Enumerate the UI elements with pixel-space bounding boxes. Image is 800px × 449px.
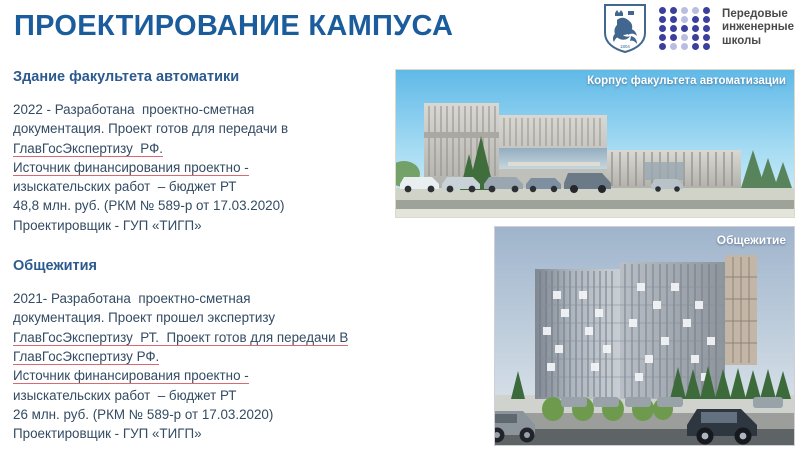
content-left-column: Здание факультета автоматики 2022 - Разр…: [13, 68, 393, 443]
photo-caption: Общежитие: [717, 233, 786, 247]
text-line: документация. Проект готов для передачи …: [13, 121, 288, 136]
text-line-misspelled: ГлавГосЭкспертизу РФ.: [13, 349, 159, 365]
brand-lockup: 1804 Передовые инженерные школы: [603, 2, 794, 54]
page-title: ПРОЕКТИРОВАНИЕ КАМПУСА: [14, 10, 453, 43]
slide-canvas: ПРОЕКТИРОВАНИЕ КАМПУСА 1804: [0, 0, 800, 449]
text-line: Проектировщик - ГУП «ТИГП»: [13, 218, 202, 233]
text-line: 48,8 млн. руб. (РКМ № 589-р от 17.03.202…: [13, 198, 285, 213]
text-line: документация. Проект прошел экспертизу: [13, 310, 275, 325]
brand-line-3: школы: [722, 35, 794, 49]
section-automation-faculty: Здание факультета автоматики 2022 - Разр…: [13, 68, 393, 235]
dot-grid-icon: [657, 6, 712, 50]
section-heading: Здание факультета автоматики: [13, 68, 393, 86]
text-line: Проектировщик - ГУП «ТИГП»: [13, 426, 202, 441]
text-line: 2022 - Разработана проектно-сметная: [13, 102, 254, 117]
text-line-misspelled: ГлавГосЭкспертизу РТ. Проект готов для п…: [13, 330, 348, 346]
section-heading: Общежития: [13, 257, 393, 275]
text-line: изыскательских работ – бюджет РТ: [13, 388, 236, 403]
photo-caption: Корпус факультета автоматизации: [587, 75, 786, 87]
university-crest-shield-icon: 1804: [603, 3, 647, 53]
brand-line-2: инженерные: [722, 21, 794, 35]
automation-faculty-building-render: Корпус факультета автоматизации: [395, 69, 795, 218]
brand-line-1: Передовые: [722, 8, 794, 22]
svg-text:1804: 1804: [620, 44, 630, 49]
section-paragraph: 2021- Разработана проектно-сметная докум…: [13, 289, 393, 443]
text-line: изыскательских работ – бюджет РТ: [13, 179, 236, 194]
brand-name: Передовые инженерные школы: [722, 8, 794, 49]
section-dormitories: Общежития 2021- Разработана проектно-сме…: [13, 257, 393, 443]
text-line-misspelled: Источник финансирования проектно -: [13, 368, 249, 384]
text-line-misspelled: ГлавГосЭкспертизу РФ.: [13, 141, 163, 157]
section-paragraph: 2022 - Разработана проектно-сметная доку…: [13, 100, 393, 235]
text-line: 26 млн. руб. (РКМ № 589-р от 17.03.2020): [13, 407, 273, 422]
text-line: 2021- Разработана проектно-сметная: [13, 291, 251, 306]
dormitory-building-render: Общежитие: [494, 226, 795, 446]
text-line-misspelled: Источник финансирования проектно -: [13, 160, 249, 176]
